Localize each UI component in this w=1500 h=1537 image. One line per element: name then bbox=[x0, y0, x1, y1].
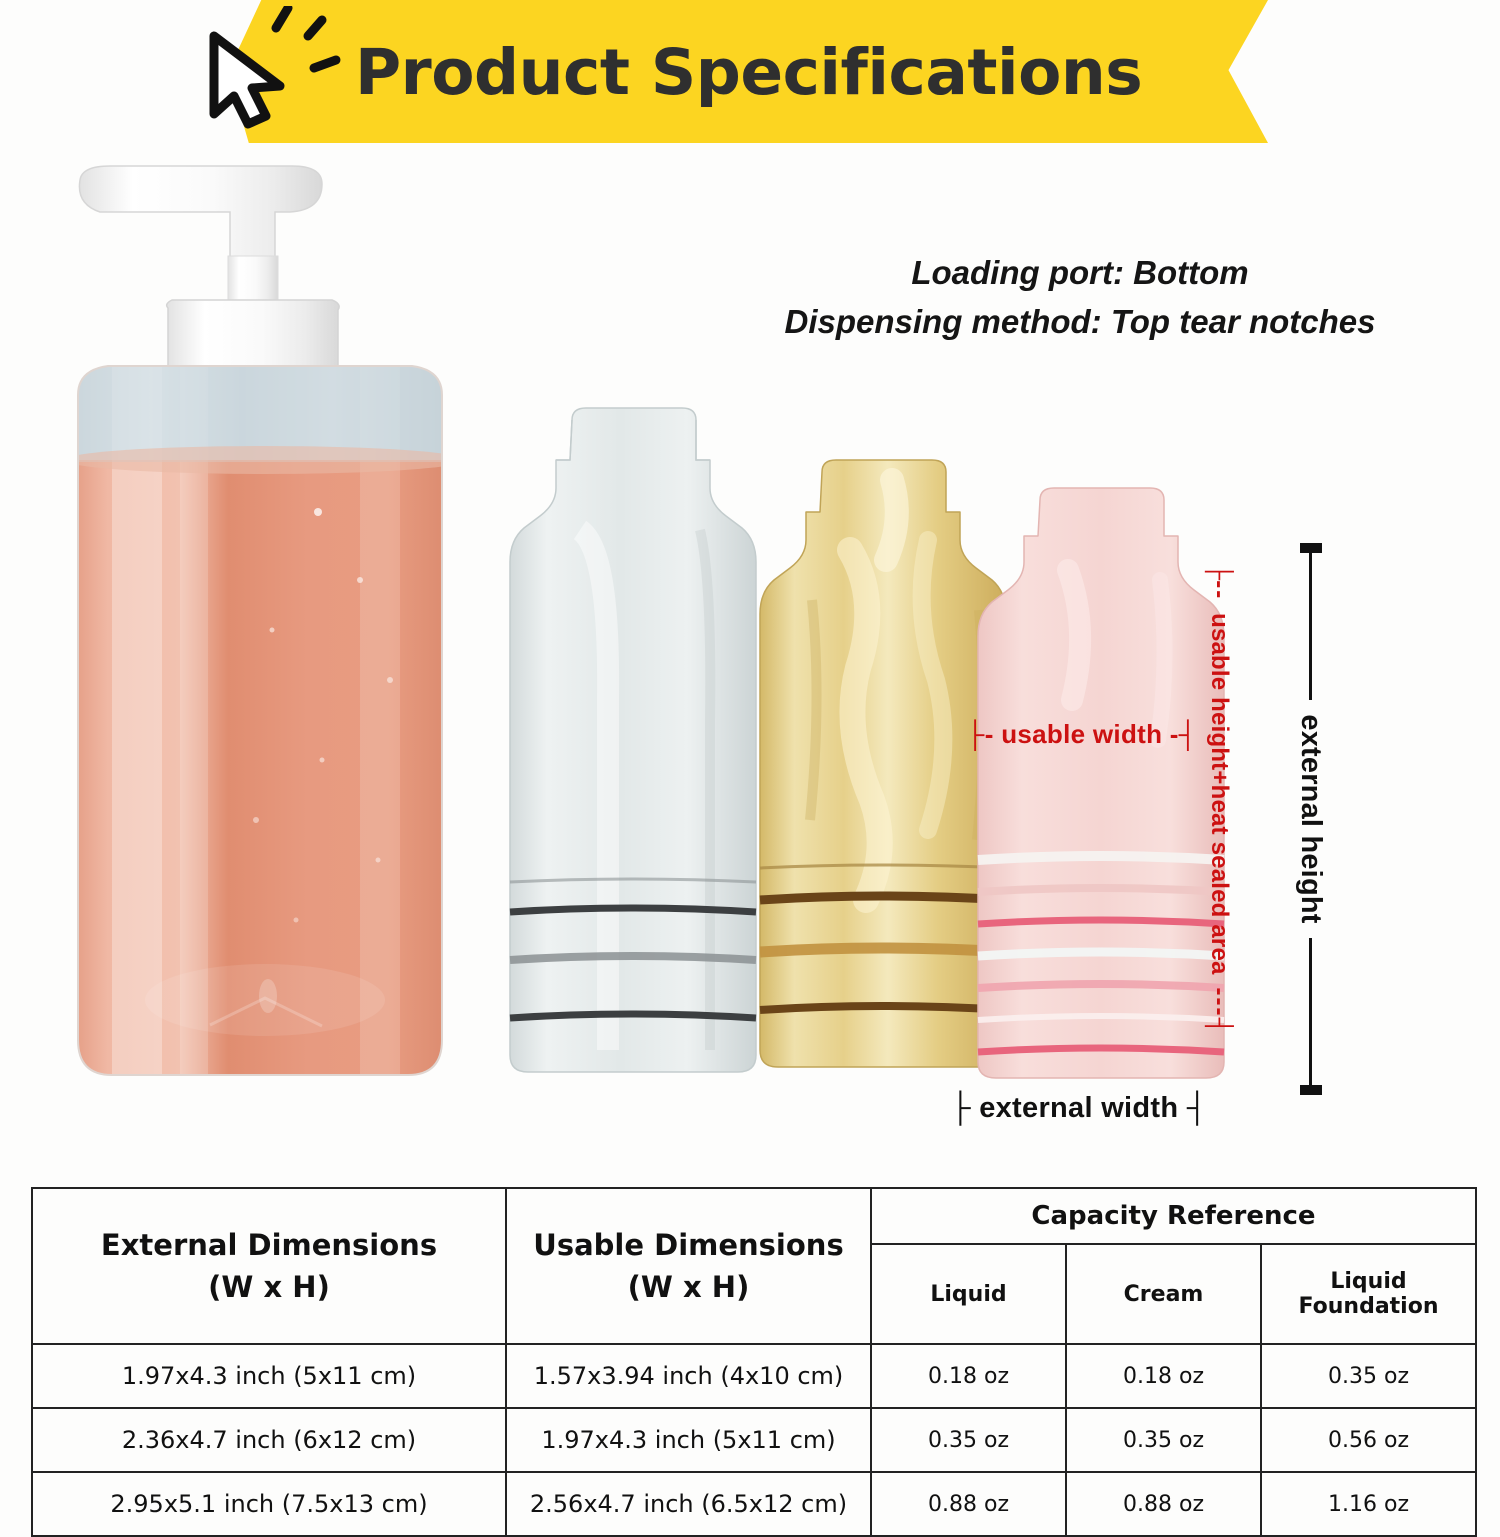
row-0-liquid-foundation: 0.35 oz bbox=[1261, 1344, 1476, 1408]
row-0-liquid: 0.18 oz bbox=[871, 1344, 1066, 1408]
header-usable-dimensions: Usable Dimensions (W x H) bbox=[506, 1188, 871, 1344]
dispensing-method-note: Dispensing method: Top tear notches bbox=[750, 297, 1410, 346]
external-height-label-group: external height bbox=[1292, 543, 1330, 1095]
product-notes: Loading port: Bottom Dispensing method: … bbox=[750, 248, 1410, 346]
row-1-usable: 1.97x4.3 inch (5x11 cm) bbox=[506, 1408, 871, 1472]
header-usable-dimensions-sub: (W x H) bbox=[508, 1266, 869, 1308]
external-height-label: external height bbox=[1295, 708, 1328, 929]
white-sachet bbox=[510, 408, 756, 1072]
header-usable-dimensions-title: Usable Dimensions bbox=[508, 1224, 869, 1266]
table-header-row-1: External Dimensions (W x H) Usable Dimen… bbox=[32, 1188, 1476, 1244]
usable-height-label: usable height+heat sealed area bbox=[1205, 613, 1233, 975]
row-2-liquid-foundation: 1.16 oz bbox=[1261, 1472, 1476, 1536]
row-1-cream: 0.35 oz bbox=[1066, 1408, 1261, 1472]
row-1-liquid-foundation: 0.56 oz bbox=[1261, 1408, 1476, 1472]
pump-dispenser-bottle-image bbox=[60, 160, 460, 1090]
page-title: Product Specifications bbox=[355, 28, 1185, 116]
sachet-pouches-image bbox=[460, 400, 1280, 1100]
header-liquid: Liquid bbox=[871, 1244, 1066, 1344]
usable-height-label-group: ├-- usable height+heat sealed area ---┤ bbox=[1199, 563, 1233, 1073]
row-1-external: 2.36x4.7 inch (6x12 cm) bbox=[32, 1408, 506, 1472]
header-liquid-foundation: Liquid Foundation bbox=[1261, 1244, 1476, 1344]
infographic-canvas: Product Specifications Loading port: Bot… bbox=[0, 0, 1500, 1493]
row-1-liquid: 0.35 oz bbox=[871, 1408, 1066, 1472]
header-capacity-reference: Capacity Reference bbox=[871, 1188, 1476, 1244]
specifications-table: External Dimensions (W x H) Usable Dimen… bbox=[31, 1187, 1477, 1537]
row-2-usable: 2.56x4.7 inch (6.5x12 cm) bbox=[506, 1472, 871, 1536]
table-row: 2.36x4.7 inch (6x12 cm) 1.97x4.3 inch (5… bbox=[32, 1408, 1476, 1472]
table-row: 2.95x5.1 inch (7.5x13 cm) 2.56x4.7 inch … bbox=[32, 1472, 1476, 1536]
pink-sachet bbox=[978, 488, 1224, 1078]
row-0-cream: 0.18 oz bbox=[1066, 1344, 1261, 1408]
row-2-external: 2.95x5.1 inch (7.5x13 cm) bbox=[32, 1472, 506, 1536]
header-cream: Cream bbox=[1066, 1244, 1261, 1344]
external-width-label: ├ external width ┤ bbox=[950, 1092, 1208, 1125]
row-2-cream: 0.88 oz bbox=[1066, 1472, 1261, 1536]
loading-port-note: Loading port: Bottom bbox=[750, 248, 1410, 297]
row-2-liquid: 0.88 oz bbox=[871, 1472, 1066, 1536]
row-0-usable: 1.57x3.94 inch (4x10 cm) bbox=[506, 1344, 871, 1408]
usable-width-label: ├- usable width -┤ bbox=[966, 719, 1197, 750]
header-external-dimensions: External Dimensions (W x H) bbox=[32, 1188, 506, 1344]
header-external-dimensions-title: External Dimensions bbox=[34, 1224, 504, 1266]
header-external-dimensions-sub: (W x H) bbox=[34, 1266, 504, 1308]
table-row: 1.97x4.3 inch (5x11 cm) 1.57x3.94 inch (… bbox=[32, 1344, 1476, 1408]
click-cursor-icon bbox=[196, 6, 346, 131]
gold-sachet bbox=[760, 460, 1006, 1067]
header-banner: Product Specifications bbox=[0, 0, 1500, 150]
row-0-external: 1.97x4.3 inch (5x11 cm) bbox=[32, 1344, 506, 1408]
